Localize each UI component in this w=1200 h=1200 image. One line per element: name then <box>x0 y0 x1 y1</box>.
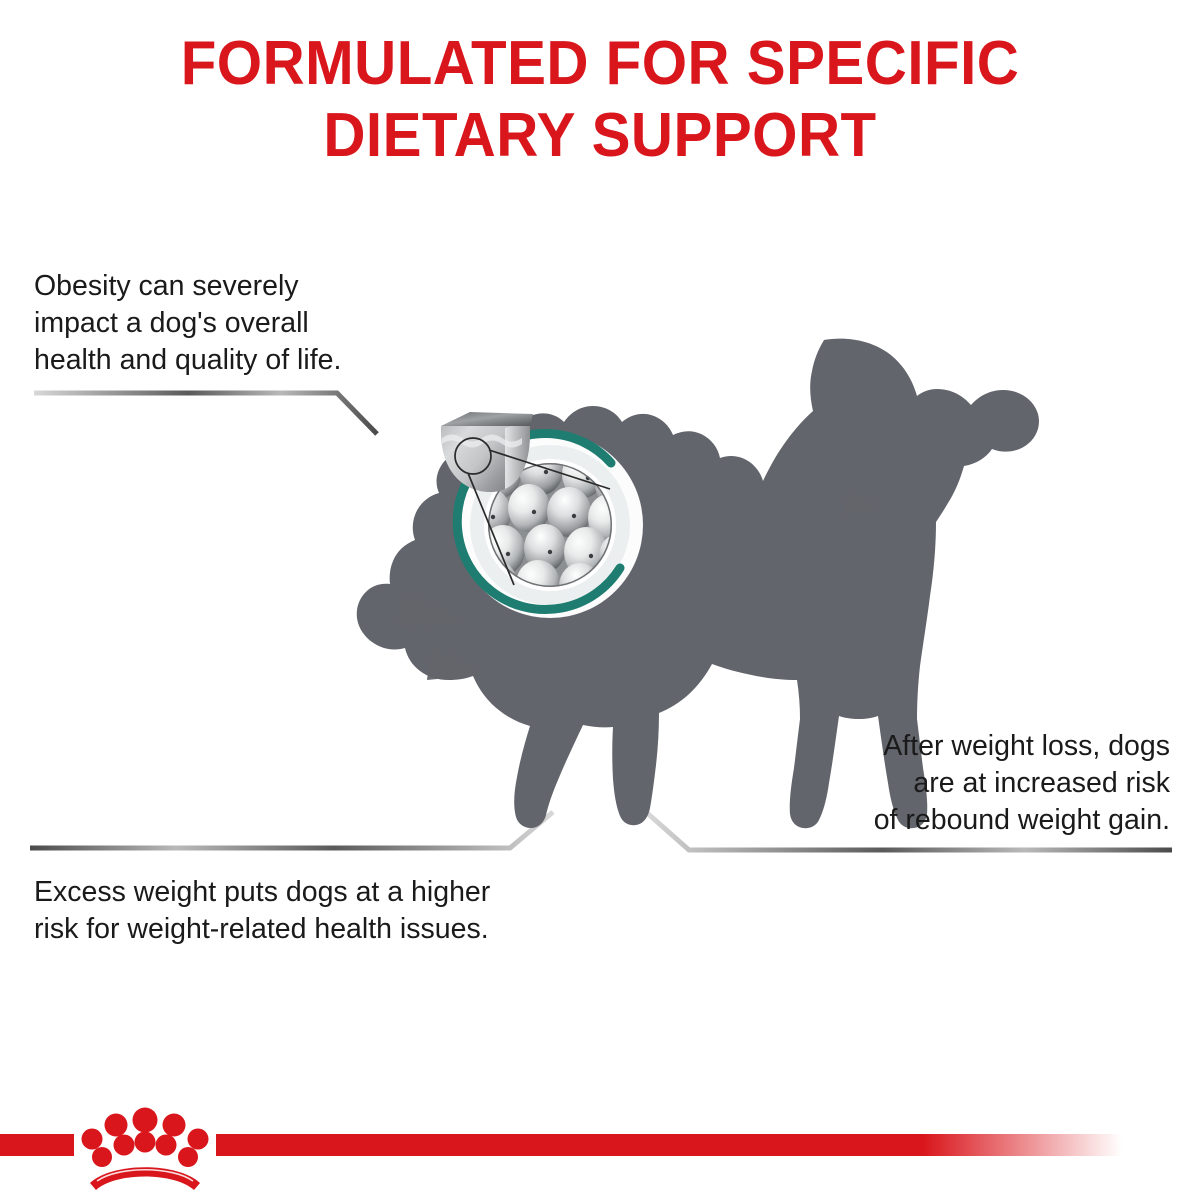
left-red-bar <box>0 1134 74 1156</box>
infographic-page: FORMULATED FOR SPECIFIC DIETARY SUPPORT <box>0 0 1200 1200</box>
royal-canin-crown-logo <box>82 1108 209 1191</box>
connector-bottom-left <box>30 812 553 848</box>
footer-brand-bar <box>0 1100 1200 1200</box>
callout-text-right: After weight loss, dogs are at increased… <box>750 728 1170 839</box>
right-red-bar <box>216 1134 1122 1156</box>
callout-text-bottom-left: Excess weight puts dogs at a higher risk… <box>34 874 654 948</box>
connector-top-left <box>34 393 377 434</box>
callout-text-top-left: Obesity can severely impact a dog's over… <box>34 268 454 379</box>
illustration-group <box>0 0 1200 1200</box>
